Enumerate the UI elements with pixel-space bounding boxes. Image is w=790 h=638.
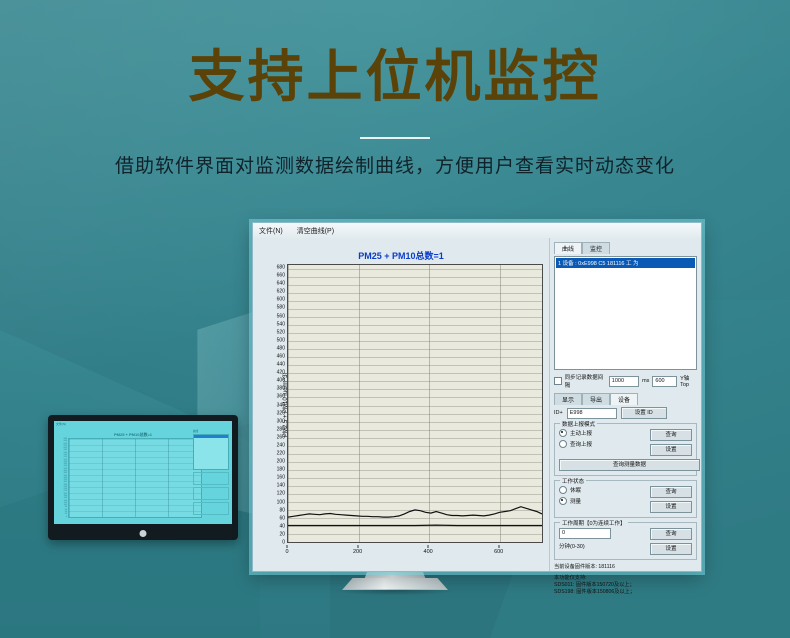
- y-tick-label: 520: [277, 330, 285, 335]
- y-tick-label: 120: [277, 492, 285, 497]
- y-tick-label: 100: [277, 500, 285, 505]
- menu-bar: 文件(N) 清空曲线(P): [253, 223, 701, 239]
- y-tick-label: 340: [277, 403, 285, 408]
- chart-pane: PM25 + PM10总数=1 PM2.5 + PM10 [ug/m^3] 02…: [253, 238, 549, 571]
- tab-monitor[interactable]: 监控: [582, 242, 610, 254]
- radio-sleep-label: 休眠: [570, 486, 581, 494]
- mini-menubar: 文件(N): [56, 422, 66, 426]
- sync-interval-unit: ms: [642, 378, 649, 384]
- mini-control-pane: 曲线: [193, 429, 229, 519]
- chart-y-axis-ticks: 0204060801001201401601802002202402602803…: [265, 264, 287, 543]
- y-tick-label: 0: [282, 541, 285, 546]
- grid-line-h: [288, 542, 542, 543]
- work-cycle-query-button[interactable]: 查询: [650, 528, 692, 540]
- work-state-query-button[interactable]: 查询: [650, 486, 692, 498]
- y-top-label: Y轴Top: [680, 374, 697, 388]
- y-tick-label: 300: [277, 419, 285, 424]
- monitor-base-shadow: [335, 589, 455, 597]
- y-tick-label: 600: [277, 298, 285, 303]
- mini-group-1: [193, 472, 229, 485]
- monitor-illustration: 文件(N) PM25 + PM10总数=1 680660640620600580…: [48, 415, 238, 540]
- chart-x-axis-ticks: 0200400600: [287, 545, 543, 557]
- chart-plot-area: [287, 264, 543, 543]
- y-tick-label: 620: [277, 290, 285, 295]
- page-title: 支持上位机监控: [0, 46, 790, 108]
- tab-device[interactable]: 设备: [610, 393, 638, 405]
- sync-interval-checkbox[interactable]: [554, 377, 562, 385]
- mini-device-list: [193, 434, 229, 470]
- radio-measure-label: 测量: [570, 497, 581, 505]
- x-tick-mark: [428, 545, 429, 548]
- tab-row: 曲线 监控: [554, 242, 697, 254]
- mini-group-2: [193, 487, 229, 500]
- work-state-buttons: 查询 设置: [650, 486, 692, 513]
- y-tick-label: 320: [277, 411, 285, 416]
- y-tick-label: 440: [277, 363, 285, 368]
- mini-group-3: [193, 502, 229, 515]
- tab-export[interactable]: 导出: [582, 393, 610, 405]
- y-tick-label: 60: [279, 516, 285, 521]
- y-tick-label: 360: [277, 395, 285, 400]
- monitor-logo: [140, 530, 147, 537]
- work-state-option-measure[interactable]: 测量: [559, 497, 581, 505]
- tab-display[interactable]: 显示: [554, 393, 582, 405]
- device-list-row[interactable]: 1 设备 : 0xE998 C5 181116 工 为: [556, 258, 695, 268]
- monitor-mini-app: 文件(N) PM25 + PM10总数=1 680660640620600580…: [54, 421, 232, 524]
- firmware-support-header: 本功能仅支持:: [554, 575, 697, 582]
- y-tick-label: 420: [277, 371, 285, 376]
- radio-active-report[interactable]: [559, 429, 567, 437]
- y-tick-label: 500: [277, 338, 285, 343]
- device-list[interactable]: 1 设备 : 0xE998 C5 181116 工 为: [554, 256, 697, 370]
- y-tick-label: 200: [277, 460, 285, 465]
- window-body: PM25 + PM10总数=1 PM2.5 + PM10 [ug/m^3] 02…: [253, 238, 701, 571]
- firmware-current-version: 当前设备固件版本: 181116: [554, 564, 697, 571]
- sync-interval-input[interactable]: 1000: [609, 376, 639, 387]
- y-tick-label: 140: [277, 484, 285, 489]
- chart-series-lines: [288, 265, 542, 542]
- work-state-caption: 工作状态: [560, 477, 586, 485]
- y-tick-label: 40: [279, 524, 285, 529]
- y-tick-label: 680: [277, 266, 285, 271]
- report-mode-buttons: 查询 设置: [650, 429, 692, 456]
- series-PM10: [288, 507, 542, 517]
- firmware-note: 当前设备固件版本: 181116 本功能仅支持: SDS011: 固件版本150…: [554, 564, 697, 596]
- set-id-button[interactable]: 设置 ID: [621, 407, 667, 419]
- work-cycle-buttons: 查询 设置: [650, 528, 692, 555]
- sync-interval-label: 同步记录数据间隔: [565, 373, 606, 389]
- x-tick-label: 0: [285, 549, 288, 555]
- report-mode-query-button[interactable]: 查询: [650, 429, 692, 441]
- y-tick-label: 280: [277, 427, 285, 432]
- work-cycle-unit-label: 分钟(0-30): [559, 542, 611, 550]
- x-tick-mark: [498, 545, 499, 548]
- y-tick-label: 80: [279, 508, 285, 513]
- query-measurement-button[interactable]: 查询测量数据: [559, 459, 700, 471]
- work-state-group: 工作状态 休眠 测量 查询 设置: [554, 480, 697, 518]
- y-tick-label: 20: [279, 532, 285, 537]
- work-cycle-input-col: 0 分钟(0-30): [559, 528, 611, 550]
- control-pane: 曲线 监控 1 设备 : 0xE998 C5 181116 工 为 同步记录数据…: [549, 238, 701, 571]
- firmware-support-line-2: SDS198: 固件版本150806及以上；: [554, 589, 697, 596]
- y-tick-label: 540: [277, 322, 285, 327]
- chart-title: PM25 + PM10总数=1: [253, 249, 549, 262]
- y-tick-label: 380: [277, 387, 285, 392]
- x-tick-label: 400: [424, 549, 433, 555]
- firmware-support-line-1: SDS011: 固件版本150720及以上；: [554, 582, 697, 589]
- work-cycle-caption: 工作周期【0为连续工作】: [560, 519, 628, 527]
- y-tick-label: 480: [277, 346, 285, 351]
- x-tick-label: 600: [494, 549, 503, 555]
- y-tick-label: 260: [277, 435, 285, 440]
- work-cycle-group: 工作周期【0为连续工作】 0 分钟(0-30) 查询 设置: [554, 522, 697, 560]
- work-cycle-body: 0 分钟(0-30) 查询 设置: [559, 528, 692, 555]
- page-subtitle: 借助软件界面对监测数据绘制曲线，方便用户查看实时动态变化: [0, 154, 790, 180]
- device-id-row: ID+ E998 设置 ID: [554, 407, 697, 419]
- report-mode-caption: 数据上报模式: [560, 420, 597, 428]
- radio-sleep[interactable]: [559, 486, 567, 494]
- y-tick-label: 660: [277, 274, 285, 279]
- menu-item-clear-curve[interactable]: 清空曲线(P): [297, 226, 334, 236]
- radio-measure[interactable]: [559, 497, 567, 505]
- x-tick-mark: [287, 545, 288, 548]
- device-id-input[interactable]: E998: [567, 408, 617, 419]
- mini-device-row: [194, 435, 228, 438]
- y-tick-label: 240: [277, 443, 285, 448]
- work-state-options: 休眠 测量: [559, 486, 581, 508]
- mini-y-axis: 6806606406206005805605405205004804604404…: [58, 438, 67, 518]
- radio-active-report-label: 主动上报: [570, 429, 592, 437]
- report-mode-option-query[interactable]: 查询上报: [559, 440, 592, 448]
- work-cycle-set-button[interactable]: 设置: [650, 543, 692, 555]
- report-mode-option-active[interactable]: 主动上报: [559, 429, 592, 437]
- y-tick-label: 560: [277, 314, 285, 319]
- work-state-body: 休眠 测量 查询 设置: [559, 486, 692, 513]
- sync-interval-row: 同步记录数据间隔 1000 ms 600 Y轴Top: [554, 373, 697, 389]
- report-mode-options: 主动上报 查询上报: [559, 429, 592, 451]
- mini-y-tick: 0: [66, 516, 67, 518]
- mini-plot-area: [68, 438, 202, 518]
- y-tick-label: 640: [277, 282, 285, 287]
- y-tick-label: 180: [277, 468, 285, 473]
- sub-tab-row: 显示 导出 设备: [554, 393, 697, 405]
- radio-query-report-label: 查询上报: [570, 440, 592, 448]
- title-divider: [360, 137, 430, 139]
- radio-query-report[interactable]: [559, 440, 567, 448]
- y-top-input[interactable]: 600: [652, 376, 677, 387]
- monitor-screen: 文件(N) PM25 + PM10总数=1 680660640620600580…: [54, 421, 232, 524]
- mini-tab-row: 曲线: [193, 429, 229, 433]
- y-tick-label: 460: [277, 355, 285, 360]
- work-state-set-button[interactable]: 设置: [650, 501, 692, 513]
- menu-item-file[interactable]: 文件(N): [259, 226, 283, 236]
- device-id-label: ID+: [554, 410, 563, 416]
- y-tick-label: 580: [277, 306, 285, 311]
- report-mode-group: 数据上报模式 主动上报 查询上报 查询 设置: [554, 423, 697, 476]
- work-state-option-sleep[interactable]: 休眠: [559, 486, 581, 494]
- y-tick-label: 160: [277, 476, 285, 481]
- report-mode-set-button[interactable]: 设置: [650, 444, 692, 456]
- work-cycle-input[interactable]: 0: [559, 528, 611, 539]
- x-tick-mark: [357, 545, 358, 548]
- y-tick-label: 400: [277, 379, 285, 384]
- report-mode-body: 主动上报 查询上报 查询 设置: [559, 429, 692, 456]
- y-tick-label: 220: [277, 452, 285, 457]
- tab-curve[interactable]: 曲线: [554, 242, 582, 254]
- application-window: 文件(N) 清空曲线(P) PM25 + PM10总数=1 PM2.5 + PM…: [252, 222, 702, 572]
- x-tick-label: 200: [353, 549, 362, 555]
